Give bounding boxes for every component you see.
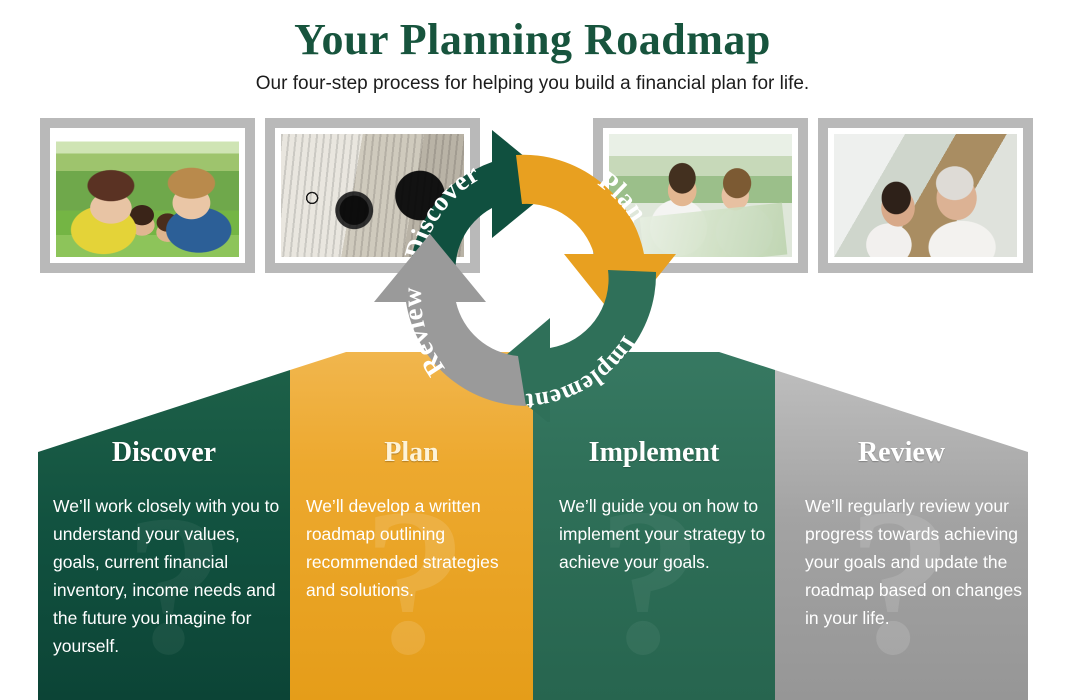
cycle-wheel-diagram: Discover Plan Implement [366,112,700,422]
column-heading-implement: Implement [533,437,775,469]
wheel-segment-review: Review [374,234,526,406]
photo-senior-couple [834,134,1017,257]
column-body-implement: We’ll guide you on how to implement your… [559,492,775,576]
infographic-canvas: Your Planning Roadmap Our four-step proc… [0,0,1065,700]
photo-frame-1 [40,118,255,273]
column-body-discover: We’ll work closely with you to understan… [53,492,281,660]
page-subtitle: Our four-step process for helping you bu… [0,72,1065,96]
photo-mat [828,128,1023,263]
column-heading-discover: Discover [38,437,290,469]
column-body-review: We’ll regularly review your progress tow… [805,492,1027,632]
column-body-plan: We’ll develop a written roadmap outlinin… [306,492,531,604]
column-heading-review: Review [775,437,1028,469]
page-title: Your Planning Roadmap [0,14,1065,66]
column-heading-plan: Plan [290,437,533,469]
photo-mat [50,128,245,263]
photo-family-on-grass [56,134,239,257]
photo-frame-4 [818,118,1033,273]
